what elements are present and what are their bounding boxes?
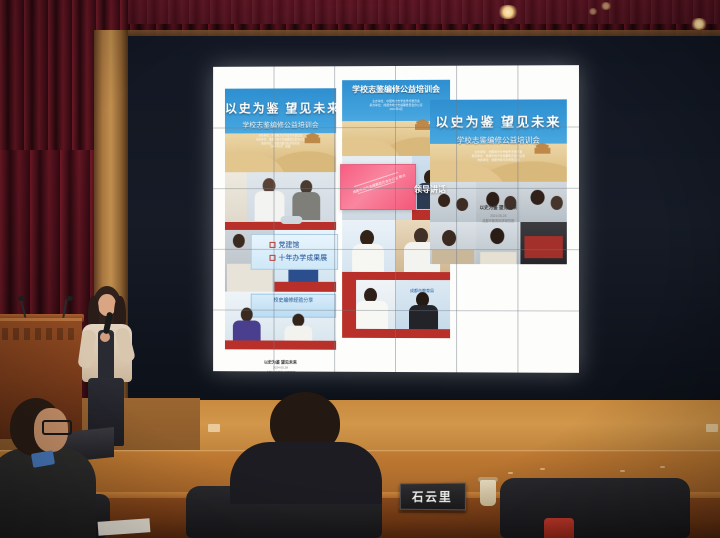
- nameplate: 石云里: [400, 483, 466, 511]
- wall-outlet-icon: [706, 424, 718, 432]
- photo-man-white-shirt: [342, 220, 396, 280]
- poster-header-right: 以史为鉴 望见未来 学校志鉴编修公益培训会 主办单位：中国地方志学会学术委员会 …: [430, 99, 567, 182]
- poster-meta: 主办单位：中国地方志学会学术委员会 承办单位：成都市地方志编纂委员会办公室 协办…: [225, 130, 336, 149]
- poster-meta: 主办单位：中国地方志学会学术委员会 承办单位：成都市地方志编纂委员会办公室 协办…: [430, 146, 567, 162]
- slide-column-right: 以史为鉴 望见未来 学校志鉴编修公益培训会 主办单位：中国地方志学会学术委员会 …: [430, 99, 567, 340]
- nameplate-text: 石云里: [412, 488, 453, 505]
- eyeglasses-icon: [42, 420, 72, 435]
- ceiling-light-icon: [690, 18, 708, 30]
- photo-audience-5: [476, 222, 520, 264]
- slide-bullets-callout: 党建馆 十年办学成果展: [251, 234, 338, 270]
- microphone-icon: [18, 296, 25, 301]
- microphone-icon: [66, 296, 73, 301]
- poster-title: 以史为鉴 望见未来: [225, 88, 336, 116]
- certificate-overlay: 成都市地方志编纂委员会办公室 聘书: [340, 164, 416, 210]
- lectern-engraved-text: [2, 328, 74, 340]
- photo-audience-6: [520, 222, 566, 264]
- poster-subtitle: 学校志鉴编修公益培训会: [225, 116, 336, 130]
- ceiling-light-icon: [497, 5, 519, 19]
- poster-footer-right: 以史为鉴 望见未来 2024.05.28 成都市教育科学研究院: [430, 204, 567, 225]
- ceiling-light-icon: [588, 8, 598, 15]
- photo-scene: 以史为鉴 望见未来 学校志鉴编修公益培训会 主办单位：中国地方志学会学术委员会 …: [0, 0, 720, 538]
- photo-podium-speakers: [225, 172, 336, 230]
- poster-footer-left: 以史为鉴 望见未来 2024.05.28 成都市教育科学研究院: [225, 359, 336, 373]
- poster-header-left: 以史为鉴 望见未来 学校志鉴编修公益培训会 主办单位：中国地方志学会学术委员会 …: [225, 88, 336, 172]
- poster-subtitle: 学校志鉴编修公益培训会: [430, 131, 567, 146]
- poster-title-center: 学校志鉴编修公益培训会: [342, 80, 450, 95]
- slide-column-left: 以史为鉴 望见未来 学校志鉴编修公益培训会 主办单位：中国地方志学会学术委员会 …: [225, 88, 336, 350]
- red-folder: [544, 518, 574, 538]
- photo-row-with-callout: 党建馆 十年办学成果展: [225, 230, 336, 292]
- photo-bottom-panel: 校史编修经验分享: [225, 292, 336, 350]
- seated-attendee-left: [0, 398, 94, 538]
- wall-outlet-icon: [208, 424, 220, 432]
- poster-title: 以史为鉴 望见未来: [430, 99, 567, 131]
- chair-back: [500, 478, 690, 538]
- checkbox-icon: [270, 255, 276, 261]
- photo-audience-4: [430, 222, 476, 264]
- tea-cup: [480, 480, 496, 506]
- attendee-shoulders: [230, 442, 382, 504]
- seated-attendee-center: [238, 392, 374, 502]
- led-video-wall: 以史为鉴 望见未来 学校志鉴编修公益培训会 主办单位：中国地方志学会学术委员会 …: [213, 65, 579, 373]
- photo-man-seated: [342, 280, 396, 338]
- ceiling-light-icon: [600, 2, 612, 10]
- leader-speech-label: 领导讲话: [414, 184, 446, 195]
- checkbox-icon: [270, 242, 276, 248]
